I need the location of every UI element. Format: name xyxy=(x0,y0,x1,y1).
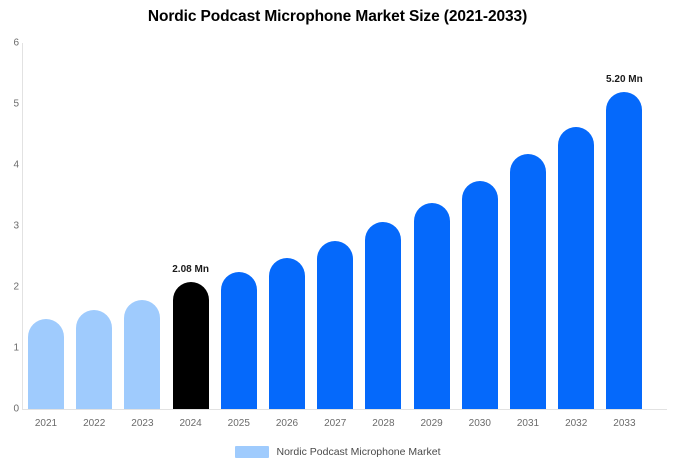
bar-group[interactable] xyxy=(269,0,305,409)
x-axis-tick-label: 2033 xyxy=(606,418,642,429)
bar-2023[interactable] xyxy=(124,300,160,409)
bar-2032[interactable] xyxy=(558,127,594,409)
bar-group[interactable] xyxy=(124,0,160,409)
bar-2027[interactable] xyxy=(317,241,353,409)
bar-2031[interactable] xyxy=(510,154,546,409)
chart-legend: Nordic Podcast Microphone Market xyxy=(0,446,675,458)
bar-2030[interactable] xyxy=(462,181,498,409)
x-axis-tick-label: 2026 xyxy=(269,418,305,429)
x-axis-tick-label: 2030 xyxy=(462,418,498,429)
bar-value-label-2033: 5.20 Mn xyxy=(606,74,643,85)
bar-group[interactable] xyxy=(317,0,353,409)
bar-2033[interactable] xyxy=(606,92,642,409)
bar-group[interactable] xyxy=(462,0,498,409)
x-axis-labels: 2021202220232024202520262027202820292030… xyxy=(0,414,675,436)
bar-2029[interactable] xyxy=(414,203,450,409)
x-axis-tick-label: 2031 xyxy=(510,418,546,429)
bar-group[interactable] xyxy=(558,0,594,409)
bar-group[interactable]: 5.20 Mn xyxy=(606,0,642,409)
bar-value-label-2024: 2.08 Mn xyxy=(172,264,209,275)
x-axis-tick-label: 2024 xyxy=(173,418,209,429)
legend-label[interactable]: Nordic Podcast Microphone Market xyxy=(277,446,441,458)
bar-group[interactable] xyxy=(221,0,257,409)
bar-chart: Nordic Podcast Microphone Market Size (2… xyxy=(0,0,675,469)
x-axis-tick-label: 2025 xyxy=(221,418,257,429)
bar-group[interactable] xyxy=(414,0,450,409)
x-axis-tick-label: 2029 xyxy=(414,418,450,429)
bar-group[interactable] xyxy=(76,0,112,409)
bar-2025[interactable] xyxy=(221,272,257,409)
bar-group[interactable]: 2.08 Mn xyxy=(173,0,209,409)
x-axis-tick-label: 2032 xyxy=(558,418,594,429)
x-axis-tick-label: 2027 xyxy=(317,418,353,429)
x-axis-tick-label: 2021 xyxy=(28,418,64,429)
bar-2024[interactable] xyxy=(173,282,209,409)
bar-2021[interactable] xyxy=(28,319,64,409)
bar-2022[interactable] xyxy=(76,310,112,409)
x-axis-tick-label: 2023 xyxy=(124,418,160,429)
bar-group[interactable] xyxy=(365,0,401,409)
bar-group[interactable] xyxy=(510,0,546,409)
bar-group[interactable] xyxy=(28,0,64,409)
bars-layer: 2.08 Mn5.20 Mn xyxy=(0,0,675,409)
x-axis-tick-label: 2022 xyxy=(76,418,112,429)
x-axis-tick-label: 2028 xyxy=(365,418,401,429)
x-axis-line xyxy=(22,409,667,410)
bar-2026[interactable] xyxy=(269,258,305,409)
legend-swatch xyxy=(235,446,269,458)
bar-2028[interactable] xyxy=(365,222,401,409)
